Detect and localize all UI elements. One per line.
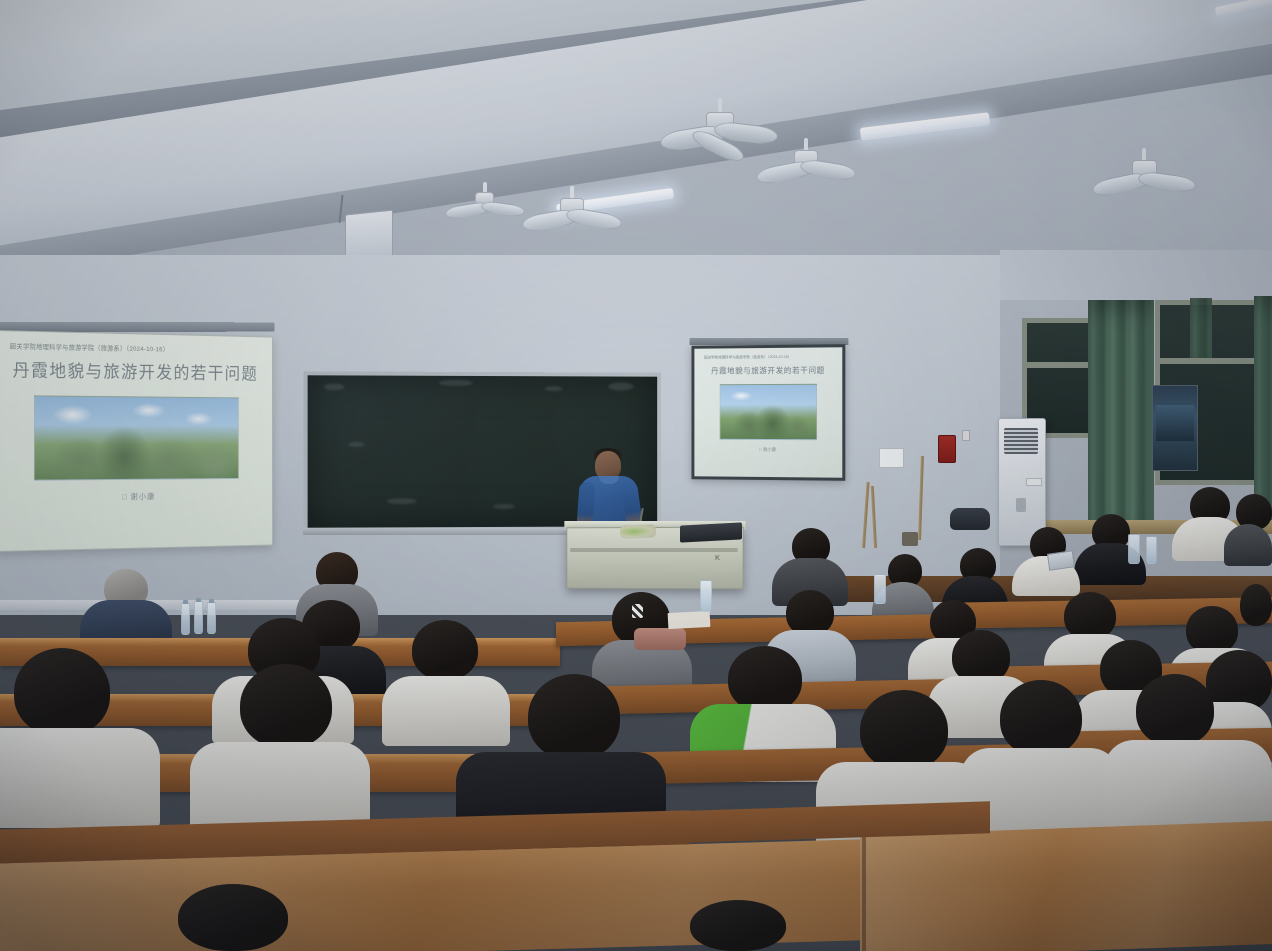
water-bottle: [1146, 536, 1157, 564]
curtain-left: [1088, 300, 1154, 525]
audience-torso: [0, 728, 160, 828]
audience-head: [860, 690, 948, 770]
lectern-control-panel[interactable]: [680, 522, 742, 542]
audience-head: [178, 884, 288, 951]
slide-header-text: 韶关学院地理科学与旅游学院（旅游系）（2024-10-16）: [0, 331, 272, 355]
audience-torso: [382, 676, 510, 746]
curtain-right: [1190, 298, 1212, 358]
water-bottle: [194, 601, 203, 634]
slide-photo-danxia: [34, 395, 239, 480]
lectern-brand-logo: K: [715, 555, 729, 563]
wall-socket: [962, 430, 970, 441]
water-bottle: [700, 580, 712, 612]
fire-alarm-box[interactable]: [938, 435, 956, 463]
air-conditioner-label: [1026, 478, 1042, 486]
audience-head: [528, 674, 620, 760]
ceiling-fan: [752, 138, 862, 204]
student-bag: [634, 628, 686, 650]
projection-screen-secondary: 韶关学院地理科学与旅游学院（旅游系）（2024-10-16） 丹霞地貌与旅游开发…: [691, 344, 845, 481]
slide2-title-text: 丹霞地貌与旅游开发的若干问题: [694, 364, 842, 376]
audience-torso: [1224, 524, 1272, 566]
wall-poster-image: [1156, 405, 1194, 441]
broom-head: [902, 532, 918, 546]
audience-head: [728, 646, 802, 712]
water-bottle-cap: [196, 598, 201, 602]
slide2-author-text: □ 谢小康: [694, 447, 842, 454]
projection-screen-main: 韶关学院地理科学与旅游学院（旅游系）（2024-10-16） 丹霞地貌与旅游开发…: [0, 330, 273, 552]
hair-clip: [632, 604, 643, 618]
wall-notice-sign: [879, 448, 904, 468]
water-bottle: [874, 574, 886, 604]
audience-head: [1240, 584, 1272, 626]
audience-head: [1000, 680, 1082, 756]
audience-head: [14, 648, 110, 736]
air-conditioner-grille: [1004, 428, 1038, 454]
audience-head: [1136, 674, 1214, 746]
lectern-seam: [570, 548, 737, 552]
slide2-photo-danxia: [719, 384, 816, 440]
slide2-header-text: 韶关学院地理科学与旅游学院（旅游系）（2024-10-16）: [694, 347, 842, 360]
audience-head: [1186, 606, 1238, 654]
audience-head: [1064, 592, 1116, 640]
foreground-desk-gloss: [860, 821, 1272, 951]
tablet-device[interactable]: [1047, 550, 1075, 570]
water-bottle-cap: [183, 600, 188, 604]
audience-head: [240, 664, 332, 748]
air-conditioner-control-panel[interactable]: [1016, 498, 1026, 512]
water-bottle: [181, 603, 190, 635]
floor-backpack: [950, 508, 990, 530]
water-bottle: [207, 602, 216, 634]
curtain-middle: [1254, 296, 1272, 528]
ceiling-fan: [520, 186, 626, 250]
notebook-paper: [668, 611, 711, 629]
ceiling-fan: [1090, 148, 1200, 214]
foreground-desk-seam: [862, 824, 866, 951]
lecture-hall-photo: 韶关学院地理科学与旅游学院（旅游系）（2024-10-16） 丹霞地貌与旅游开发…: [0, 0, 1272, 951]
water-bottle-cap: [209, 599, 214, 603]
audience-head: [690, 900, 786, 951]
ceiling-fan: [443, 182, 529, 232]
slide-title-text: 丹霞地貌与旅游开发的若干问题: [0, 357, 272, 385]
water-bottle: [1128, 534, 1140, 564]
lectern-items: [620, 524, 656, 538]
audience-torso: [1104, 740, 1272, 830]
slide-author-text: □ 谢小康: [0, 490, 272, 504]
